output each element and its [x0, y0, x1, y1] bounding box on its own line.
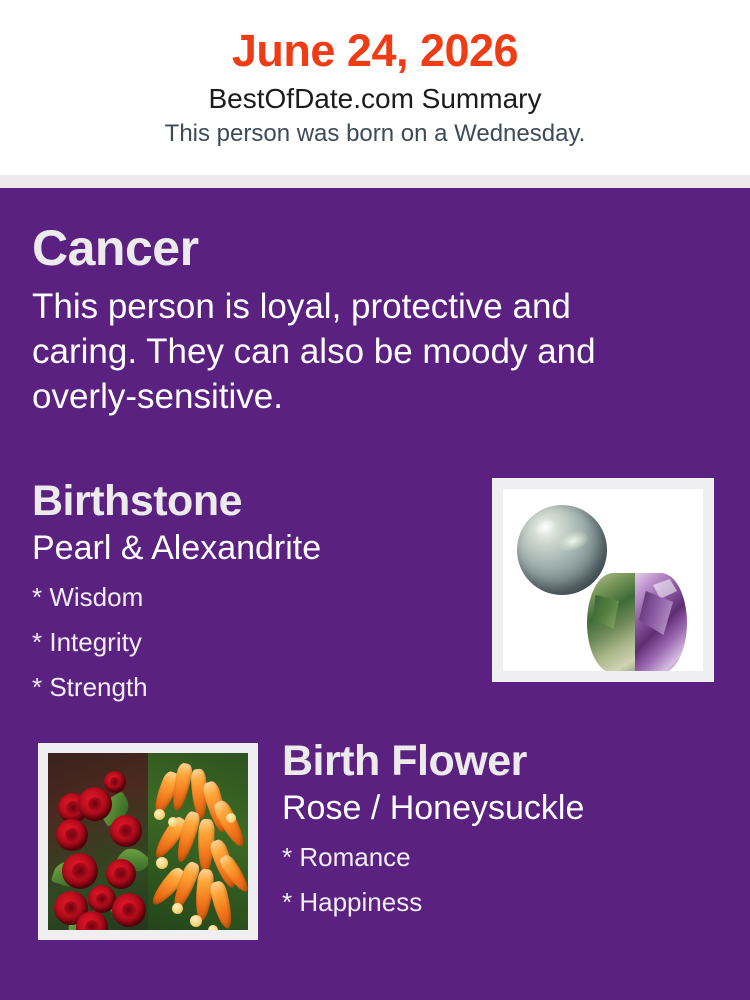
zodiac-sign-name: Cancer [32, 220, 672, 276]
list-item: * Integrity [32, 620, 472, 665]
list-item: * Happiness [282, 880, 722, 925]
birthstone-image [503, 489, 703, 671]
site-name-label: BestOfDate.com Summary [0, 78, 750, 116]
page-title: June 24, 2026 [0, 0, 750, 78]
birth-flower-image [48, 753, 248, 930]
list-item: * Wisdom [32, 575, 472, 620]
alexandrite-rough-half [587, 573, 639, 671]
honeysuckle-photo-half [148, 753, 248, 930]
birth-day-label: This person was born on a Wednesday. [0, 116, 750, 149]
birthstone-title: Birthstone [32, 476, 472, 526]
zodiac-sign-description: This person is loyal, protective and car… [32, 276, 647, 419]
alexandrite-gem-icon [587, 573, 687, 671]
birthstone-value: Pearl & Alexandrite [32, 526, 472, 569]
birth-flower-image-frame [38, 743, 258, 940]
birth-flower-title: Birth Flower [282, 736, 722, 786]
header-separator [0, 175, 750, 188]
rose-photo-half [48, 753, 148, 930]
birthstone-trait-list: * Wisdom * Integrity * Strength [32, 569, 472, 710]
birthstone-image-frame [492, 478, 714, 682]
birth-flower-section: Birth Flower Rose / Honeysuckle * Romanc… [282, 736, 722, 925]
card-header: June 24, 2026 BestOfDate.com Summary Thi… [0, 0, 750, 175]
zodiac-section: Cancer This person is loyal, protective … [32, 220, 672, 419]
list-item: * Romance [282, 835, 722, 880]
alexandrite-faceted-half [635, 573, 687, 671]
list-item: * Strength [32, 665, 472, 710]
birth-flower-value: Rose / Honeysuckle [282, 786, 722, 829]
birth-flower-trait-list: * Romance * Happiness [282, 829, 722, 925]
birthstone-section: Birthstone Pearl & Alexandrite * Wisdom … [32, 476, 472, 710]
birthday-summary-card: June 24, 2026 BestOfDate.com Summary Thi… [0, 0, 750, 1000]
